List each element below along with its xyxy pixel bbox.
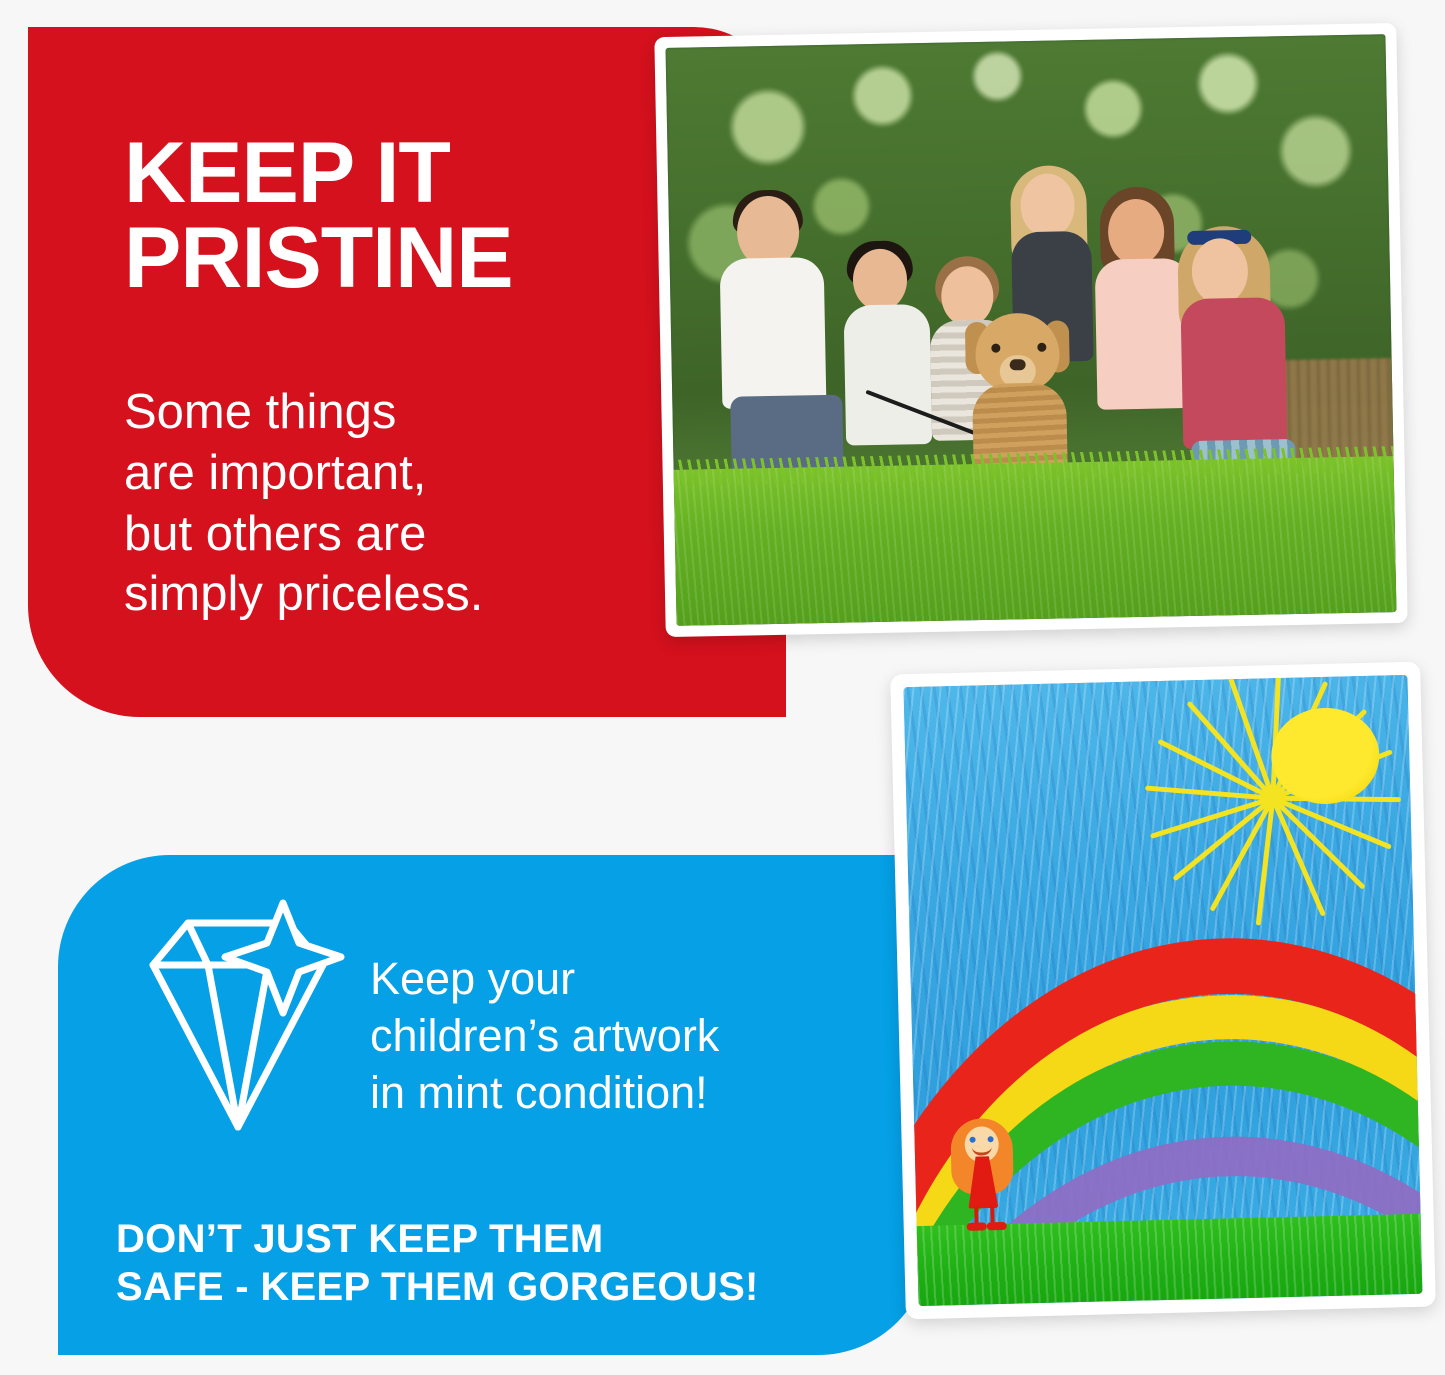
subcopy-line-3: but others are [124, 504, 604, 565]
poster-canvas: KEEP IT PRISTINE Some things are importa… [0, 0, 1445, 1375]
drawing-image [904, 675, 1423, 1306]
subcopy-line-1: Some things [124, 382, 604, 443]
torso [720, 257, 827, 409]
drawn-eye-right [988, 1136, 994, 1142]
tagline-line-2: SAFE - KEEP THEM GORGEOUS! [116, 1263, 916, 1311]
tagline-line-1: DON’T JUST KEEP THEM [116, 1215, 916, 1263]
blue-panel-copy: Keep your children’s artwork in mint con… [370, 950, 870, 1121]
headline-line-2: PRISTINE [124, 216, 684, 301]
blue-copy-line-2: children’s artwork [370, 1007, 870, 1064]
torso [843, 304, 932, 446]
torso [1180, 297, 1287, 449]
lawn-grass [674, 456, 1397, 626]
page-title: KEEP IT PRISTINE [124, 131, 684, 301]
drawn-eye-left [970, 1136, 976, 1142]
dog-eye-left [991, 343, 1000, 352]
photo-image [666, 34, 1397, 626]
subcopy-line-4: simply priceless. [124, 564, 604, 625]
blue-copy-line-1: Keep your [370, 950, 870, 1007]
red-panel-subcopy: Some things are important, but others ar… [124, 382, 604, 625]
family-with-dog-photo [654, 23, 1407, 637]
diamond-sparkle-icon [113, 895, 353, 1145]
blue-copy-line-3: in mint condition! [370, 1064, 870, 1121]
childrens-crayon-drawing [890, 662, 1436, 1320]
subcopy-line-2: are important, [124, 443, 604, 504]
blue-panel-tagline: DON’T JUST KEEP THEM SAFE - KEEP THEM GO… [116, 1215, 916, 1311]
dog-nose [1009, 359, 1025, 370]
blue-panel: Keep your children’s artwork in mint con… [58, 855, 930, 1355]
headline-line-1: KEEP IT [124, 125, 450, 221]
drawn-shoe [967, 1222, 987, 1230]
drawn-girl-figure [944, 1117, 1021, 1231]
drawn-shoe [987, 1222, 1007, 1230]
head [852, 248, 907, 311]
dog-eye-right [1037, 342, 1046, 351]
